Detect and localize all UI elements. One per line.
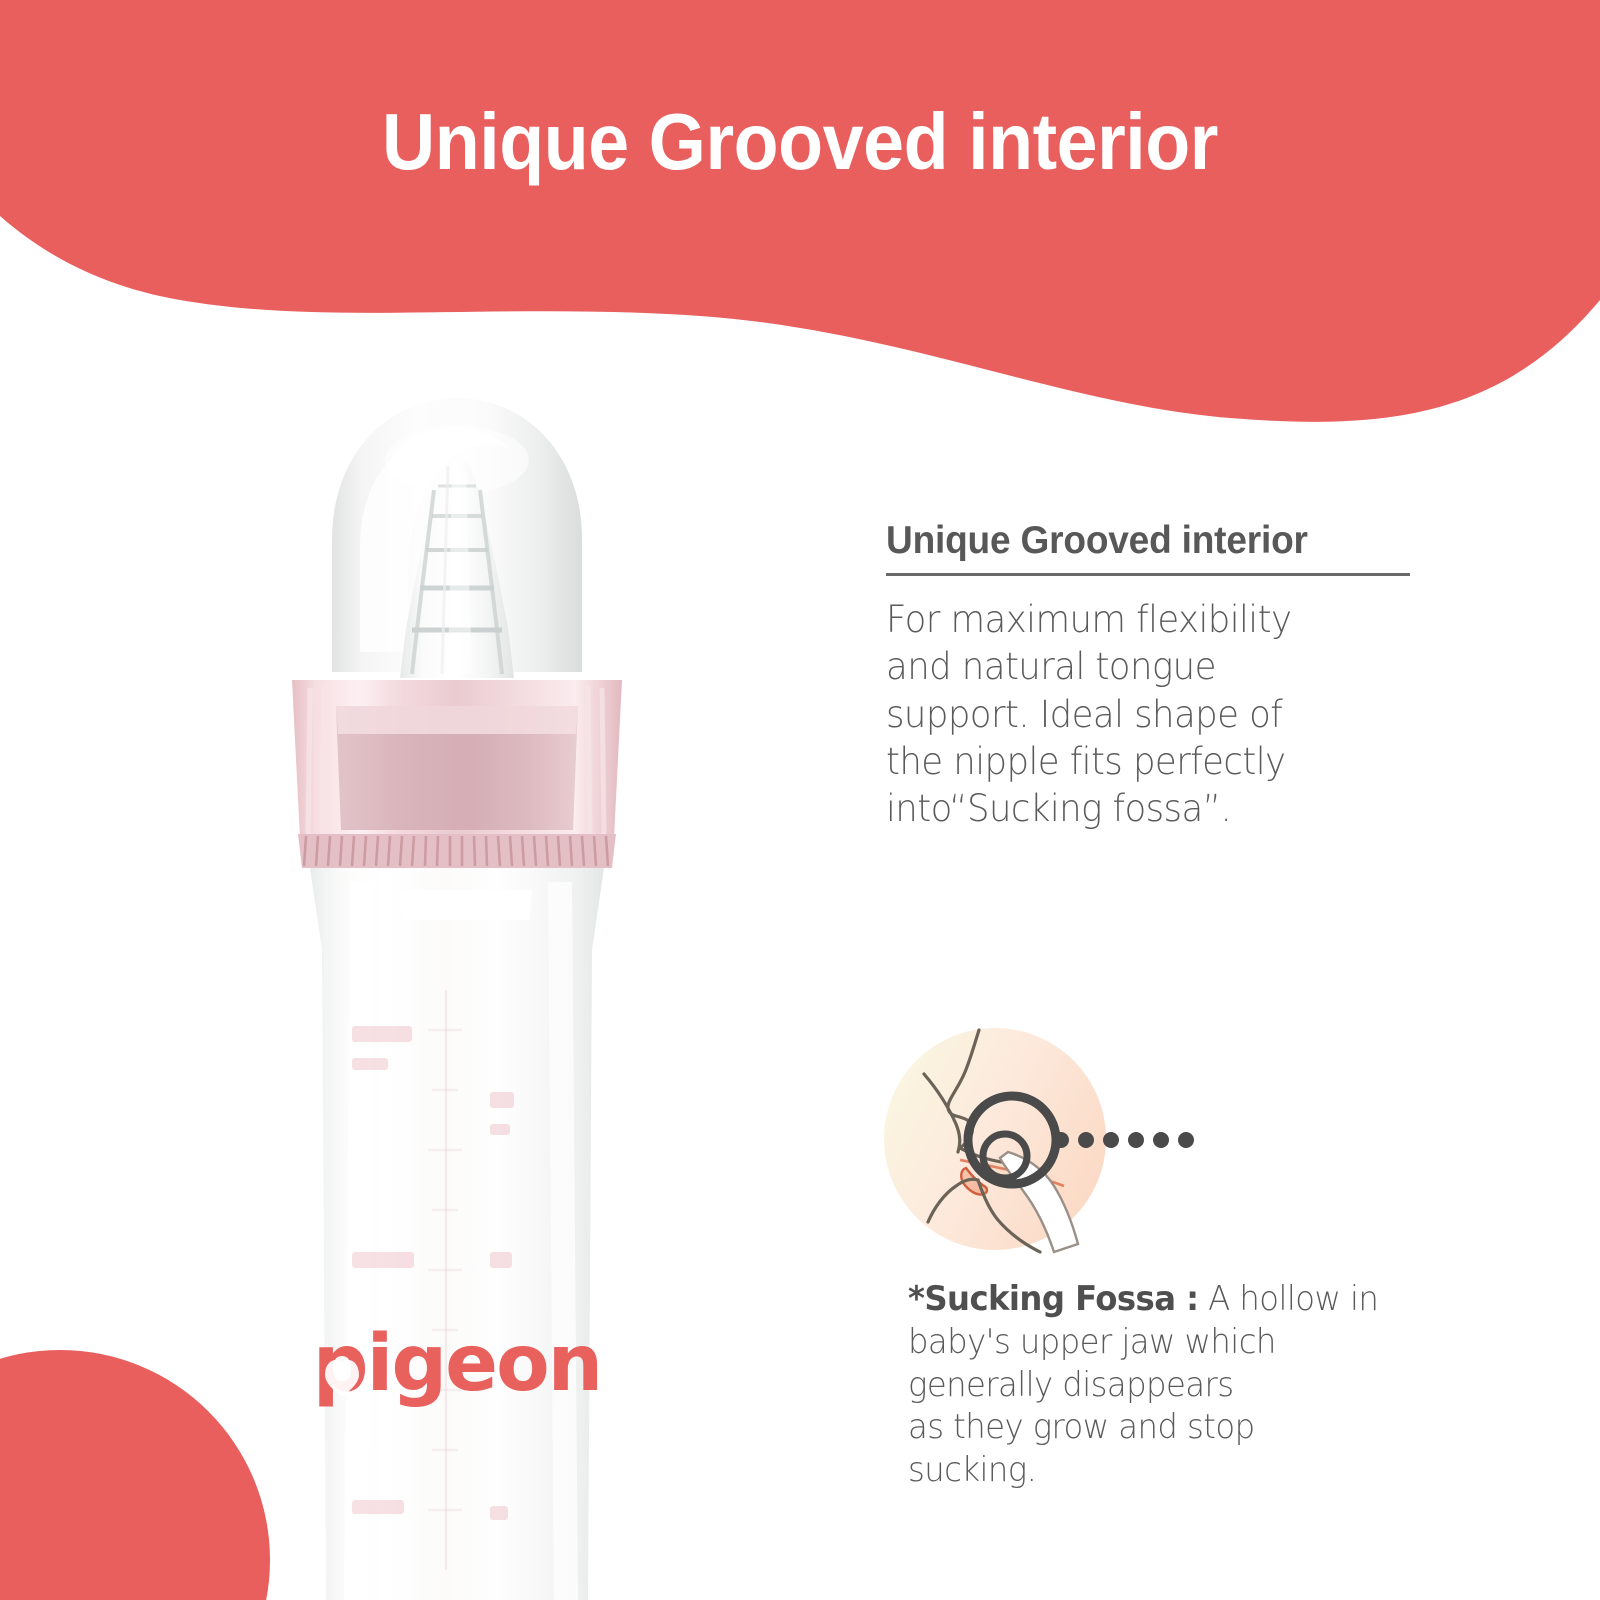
footnote-line-1: *Sucking Fossa : A hollow in bbox=[908, 1278, 1440, 1321]
body-line-5: into“Sucking fossa”. bbox=[886, 785, 1404, 832]
page-title: Unique Grooved interior bbox=[64, 96, 1536, 188]
feature-text-column: Unique Grooved interior For maximum flex… bbox=[886, 520, 1426, 833]
body-line-3: support. Ideal shape of bbox=[886, 691, 1404, 738]
footnote-line-2: baby's upper jaw which bbox=[908, 1321, 1440, 1364]
svg-text:pigeon: pigeon bbox=[313, 1319, 601, 1409]
footnote-term: *Sucking Fossa : bbox=[908, 1279, 1198, 1319]
footnote-line-3: generally disappears bbox=[908, 1364, 1440, 1407]
feature-body-text: For maximum flexibility and natural tong… bbox=[886, 596, 1404, 833]
baby-sucking-fossa-diagram bbox=[882, 1012, 1202, 1267]
feature-heading: Unique Grooved interior bbox=[886, 520, 1399, 563]
sucking-fossa-footnote: *Sucking Fossa : A hollow in baby's uppe… bbox=[908, 1278, 1440, 1492]
corner-decoration-blob bbox=[0, 1350, 270, 1600]
baby-bottle-image: pigeon bbox=[232, 390, 682, 1600]
body-line-4: the nipple fits perfectly bbox=[886, 738, 1404, 785]
product-infographic-page: Unique Grooved interior bbox=[0, 0, 1600, 1600]
footnote-line-1-rest: A hollow in bbox=[1198, 1279, 1378, 1319]
pink-screw-collar bbox=[292, 680, 622, 868]
body-line-2: and natural tongue bbox=[886, 643, 1404, 690]
footnote-line-5: sucking. bbox=[908, 1449, 1440, 1492]
body-line-1: For maximum flexibility bbox=[886, 596, 1404, 643]
bottle-body bbox=[310, 868, 604, 1600]
pigeon-logo: pigeon bbox=[313, 1319, 601, 1409]
header-wave-banner bbox=[0, 0, 1600, 430]
footnote-line-4: as they grow and stop bbox=[908, 1406, 1440, 1449]
heading-divider bbox=[886, 573, 1410, 576]
